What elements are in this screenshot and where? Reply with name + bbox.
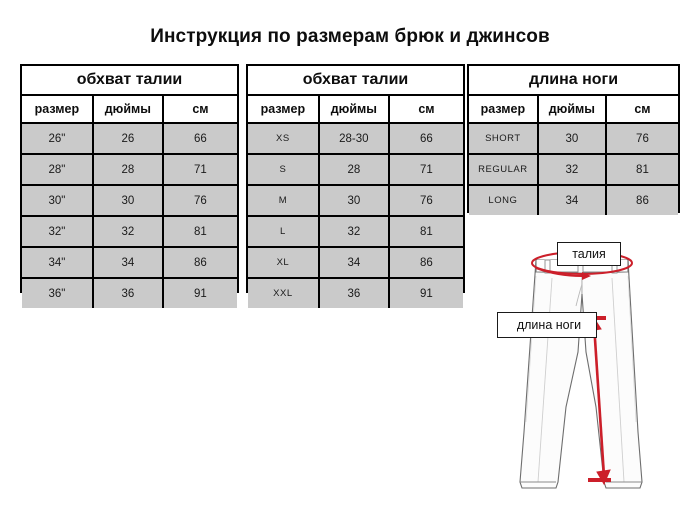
callout-inseam: длина ноги: [497, 312, 597, 338]
cell-cm: 76: [607, 124, 678, 153]
trousers-outline: [520, 260, 642, 488]
column-header-inches: дюймы: [539, 96, 607, 122]
table-body: SHORT 30 76 REGULAR 32 81 LONG 34 86: [469, 124, 678, 215]
cell-inches: 30: [320, 186, 390, 215]
table-row: 26" 26 66: [22, 124, 237, 155]
cell-size: XXL: [248, 279, 320, 308]
cell-size: 26": [22, 124, 94, 153]
table-row: REGULAR 32 81: [469, 155, 678, 186]
table-body: 26" 26 66 28" 28 71 30" 30 76 32" 32 81 …: [22, 124, 237, 308]
table-row: XXL 36 91: [248, 279, 463, 308]
cell-inches: 34: [539, 186, 607, 215]
table-row: 36" 36 91: [22, 279, 237, 308]
column-header-cm: см: [390, 96, 463, 122]
cell-size: SHORT: [469, 124, 539, 153]
table-row: 34" 34 86: [22, 248, 237, 279]
cell-inches: 30: [94, 186, 164, 215]
cell-size: 28": [22, 155, 94, 184]
cell-inches: 32: [539, 155, 607, 184]
table-row: S 28 71: [248, 155, 463, 186]
table-row: 28" 28 71: [22, 155, 237, 186]
cell-inches: 32: [94, 217, 164, 246]
cell-inches: 28: [94, 155, 164, 184]
cell-cm: 76: [164, 186, 237, 215]
cell-cm: 81: [390, 217, 463, 246]
cell-inches: 36: [320, 279, 390, 308]
table-title: обхват талии: [22, 66, 237, 96]
cell-cm: 86: [164, 248, 237, 277]
table-header-row: размер дюймы см: [469, 96, 678, 124]
cell-inches: 28: [320, 155, 390, 184]
cell-size: S: [248, 155, 320, 184]
callout-waist: талия: [557, 242, 621, 266]
table-row: 32" 32 81: [22, 217, 237, 248]
cell-size: XS: [248, 124, 320, 153]
table-row: SHORT 30 76: [469, 124, 678, 155]
cell-size: M: [248, 186, 320, 215]
cell-cm: 91: [164, 279, 237, 308]
cell-cm: 71: [164, 155, 237, 184]
cell-cm: 71: [390, 155, 463, 184]
cell-cm: 86: [607, 186, 678, 215]
table-row: XL 34 86: [248, 248, 463, 279]
cell-inches: 34: [94, 248, 164, 277]
table-header-row: размер дюймы см: [22, 96, 237, 124]
cell-cm: 66: [164, 124, 237, 153]
cell-cm: 86: [390, 248, 463, 277]
cell-size: 36": [22, 279, 94, 308]
column-header-size: размер: [469, 96, 539, 122]
table-waist-letter: обхват талии размер дюймы см XS 28-30 66…: [246, 64, 465, 293]
table-inseam: длина ноги размер дюймы см SHORT 30 76 R…: [467, 64, 680, 213]
cell-inches: 36: [94, 279, 164, 308]
cell-size: 30": [22, 186, 94, 215]
table-row: XS 28-30 66: [248, 124, 463, 155]
table-body: XS 28-30 66 S 28 71 M 30 76 L 32 81 XL 3…: [248, 124, 463, 308]
cell-inches: 34: [320, 248, 390, 277]
cell-cm: 91: [390, 279, 463, 308]
cell-cm: 81: [164, 217, 237, 246]
table-row: L 32 81: [248, 217, 463, 248]
cell-inches: 30: [539, 124, 607, 153]
table-row: LONG 34 86: [469, 186, 678, 215]
column-header-inches: дюймы: [94, 96, 164, 122]
cell-cm: 81: [607, 155, 678, 184]
column-header-size: размер: [22, 96, 94, 122]
cell-cm: 66: [390, 124, 463, 153]
cell-size: XL: [248, 248, 320, 277]
cell-inches: 26: [94, 124, 164, 153]
page-title: Инструкция по размерам брюк и джинсов: [0, 26, 700, 48]
cell-size: 34": [22, 248, 94, 277]
table-title: обхват талии: [248, 66, 463, 96]
column-header-cm: см: [607, 96, 678, 122]
cell-size: L: [248, 217, 320, 246]
cell-size: LONG: [469, 186, 539, 215]
table-row: M 30 76: [248, 186, 463, 217]
cell-size: REGULAR: [469, 155, 539, 184]
cell-cm: 76: [390, 186, 463, 215]
column-header-cm: см: [164, 96, 237, 122]
cell-size: 32": [22, 217, 94, 246]
table-row: 30" 30 76: [22, 186, 237, 217]
cell-inches: 32: [320, 217, 390, 246]
cell-inches: 28-30: [320, 124, 390, 153]
column-header-size: размер: [248, 96, 320, 122]
trousers-measurement-diagram: [478, 232, 700, 522]
column-header-inches: дюймы: [320, 96, 390, 122]
table-header-row: размер дюймы см: [248, 96, 463, 124]
table-title: длина ноги: [469, 66, 678, 96]
table-waist-numeric: обхват талии размер дюймы см 26" 26 66 2…: [20, 64, 239, 293]
